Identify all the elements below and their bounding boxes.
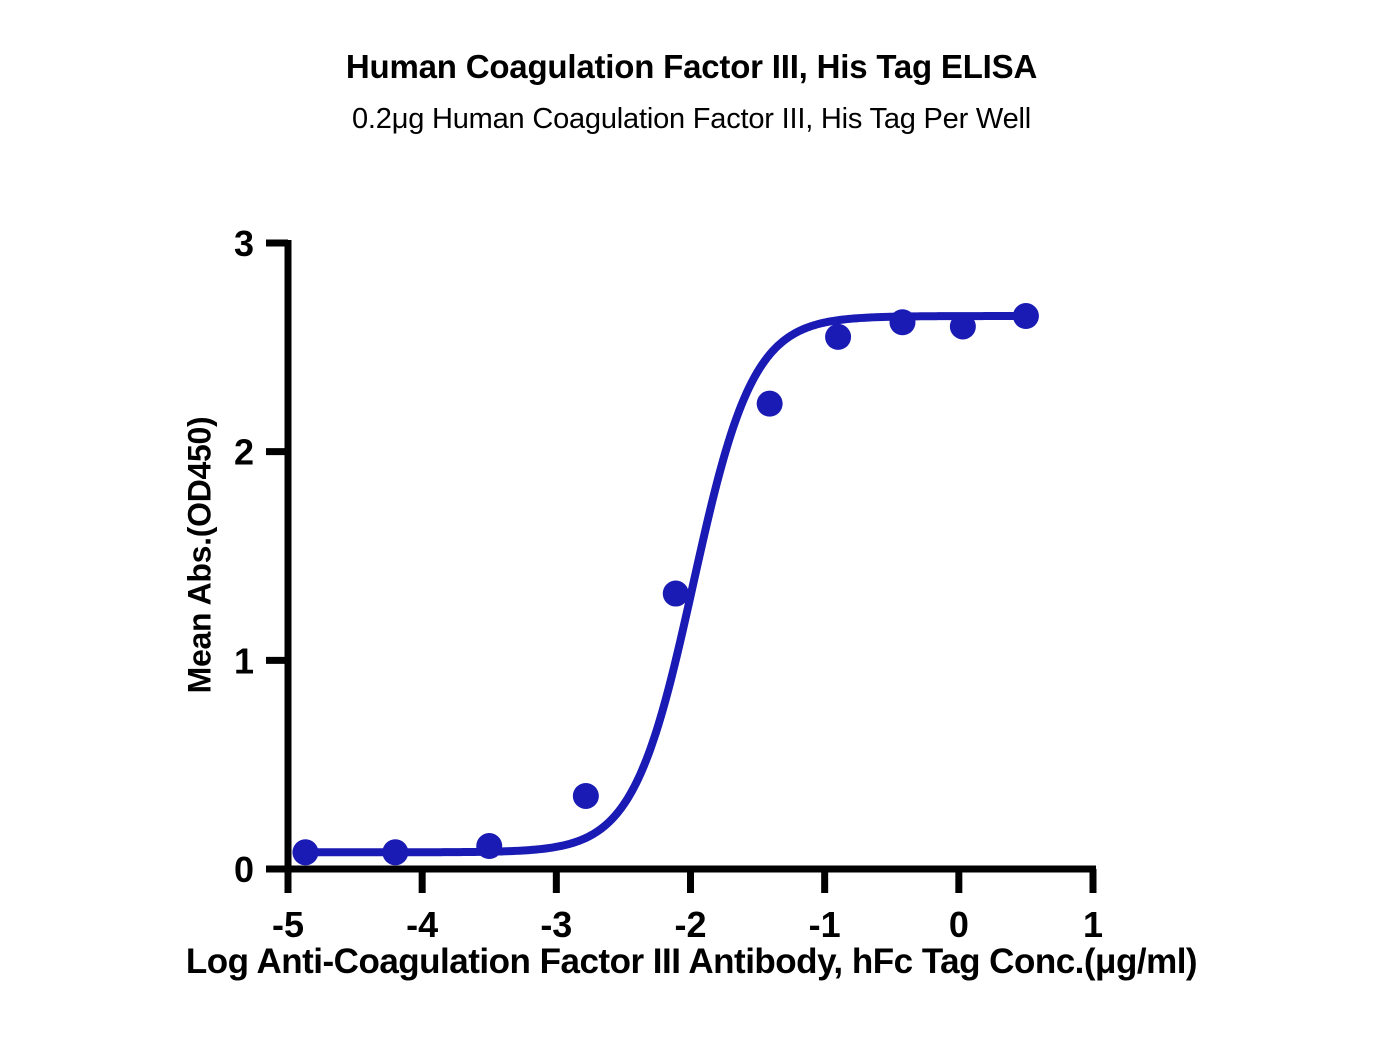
data-point-marker	[382, 839, 408, 865]
x-tick-label: -3	[540, 904, 572, 945]
fitted-curve	[306, 316, 1024, 852]
data-point-marker	[476, 833, 502, 859]
tick-marks	[266, 243, 1093, 893]
axes	[285, 240, 1096, 869]
data-point-marker	[889, 309, 915, 335]
x-tick-label: 1	[1083, 904, 1103, 945]
x-tick-label: -1	[809, 904, 841, 945]
y-tick-label: 1	[234, 640, 254, 681]
series-curve	[306, 316, 1024, 852]
y-tick-label: 3	[234, 223, 254, 264]
chart-page: Human Coagulation Factor III, His Tag EL…	[0, 0, 1383, 1038]
data-point-marker	[825, 324, 851, 350]
data-point-marker	[573, 783, 599, 809]
x-tick-label: 0	[949, 904, 969, 945]
data-point-marker	[950, 313, 976, 339]
data-points	[292, 303, 1038, 865]
y-tick-label: 2	[234, 432, 254, 473]
x-tick-label: -5	[272, 904, 304, 945]
data-point-marker	[292, 839, 318, 865]
x-tick-label: -4	[406, 904, 438, 945]
data-point-marker	[757, 391, 783, 417]
x-tick-label: -2	[674, 904, 706, 945]
y-tick-label: 0	[234, 849, 254, 890]
data-point-marker	[663, 581, 689, 607]
plot-area: 0123-5-4-3-2-101	[0, 0, 1383, 1038]
data-point-marker	[1013, 303, 1039, 329]
